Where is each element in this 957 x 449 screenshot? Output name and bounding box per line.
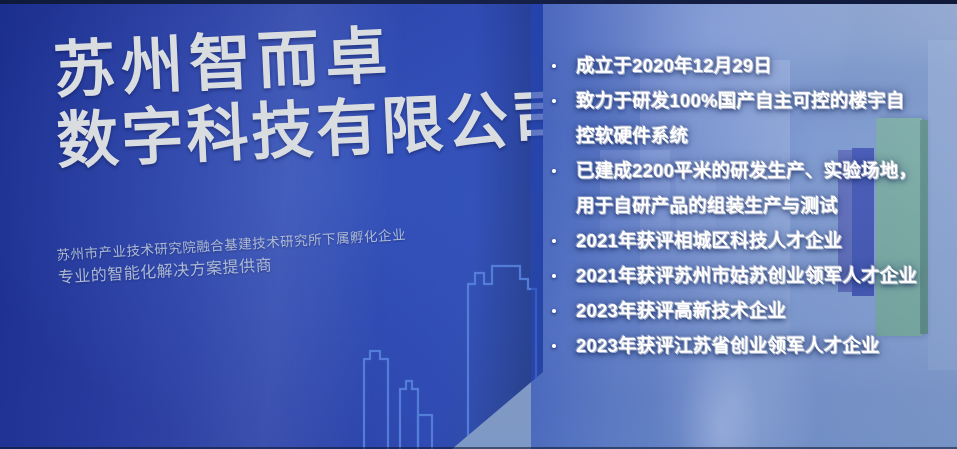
top-letterbox-strip	[0, 0, 957, 4]
bullet-dot-icon	[552, 309, 556, 313]
company-banner-wall: 苏州智而卓 数字科技有限公司 苏州市产业技术研究院融合基建技术研究所下属孵化企业…	[0, 0, 543, 449]
bullet-dot-icon	[552, 274, 556, 278]
list-item-label: 控软硬件系统	[576, 125, 688, 146]
list-item: 用于自研产品的组装生产与测试	[544, 190, 957, 222]
list-item: 2021年获评相城区科技人才企业	[544, 225, 957, 257]
list-item: 致力于研发100%国产自主可控的楼宇自	[544, 85, 957, 117]
bullet-dot-icon	[552, 239, 556, 243]
list-item-label: 用于自研产品的组装生产与测试	[576, 195, 838, 216]
list-item: 已建成2200平米的研发生产、实验场地，	[544, 155, 957, 187]
list-item: 2023年获评高新技术企业	[544, 295, 957, 327]
list-item-label: 2023年获评高新技术企业	[576, 300, 786, 321]
bullet-dot-icon	[552, 169, 556, 173]
list-item-label: 致力于研发100%国产自主可控的楼宇自	[576, 90, 905, 111]
list-item-label: 2021年获评相城区科技人才企业	[576, 230, 842, 251]
list-item: 2023年获评江苏省创业领军人才企业	[544, 330, 957, 362]
list-item: 控软硬件系统	[544, 120, 957, 152]
company-title: 苏州智而卓 数字科技有限公司	[52, 17, 558, 174]
list-item: 成立于2020年12月29日	[544, 50, 957, 82]
list-item-label: 2023年获评江苏省创业领军人才企业	[576, 335, 880, 356]
list-item-label: 成立于2020年12月29日	[576, 55, 772, 76]
slide-root: 苏州智而卓 数字科技有限公司 苏州市产业技术研究院融合基建技术研究所下属孵化企业…	[0, 0, 957, 449]
list-item-label: 已建成2200平米的研发生产、实验场地，	[576, 160, 917, 181]
list-item-label: 2021年获评苏州市姑苏创业领军人才企业	[576, 265, 917, 286]
list-item: 2021年获评苏州市姑苏创业领军人才企业	[544, 260, 957, 292]
bullet-dot-icon	[552, 64, 556, 68]
bullet-dot-icon	[552, 344, 556, 348]
company-highlights-list: 成立于2020年12月29日致力于研发100%国产自主可控的楼宇自控软硬件系统已…	[544, 50, 957, 365]
highlights-panel: 成立于2020年12月29日致力于研发100%国产自主可控的楼宇自控软硬件系统已…	[531, 0, 957, 449]
bullet-dot-icon	[552, 99, 556, 103]
